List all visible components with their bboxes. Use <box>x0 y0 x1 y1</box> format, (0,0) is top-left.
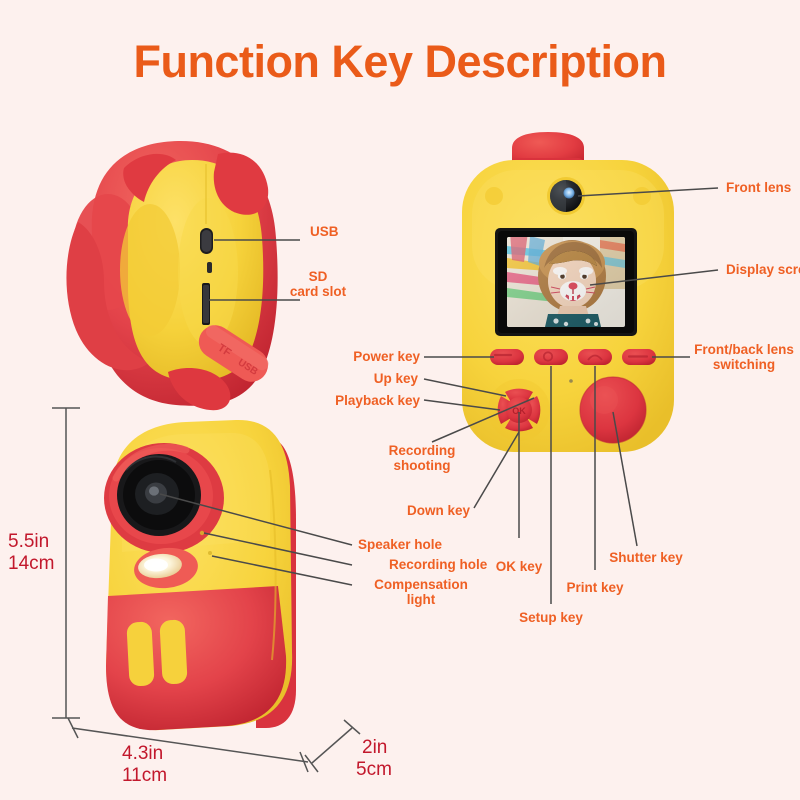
callout-speaker-hole: Speaker hole <box>358 538 442 553</box>
callout-display-screen: Display screen <box>726 263 800 278</box>
callout-power-key: Power key <box>260 350 420 365</box>
callout-ok-key: OK key <box>483 560 555 575</box>
callout-playback-key: Playback key <box>260 394 420 409</box>
callout-recording-shooting: Recording shooting <box>368 444 476 473</box>
callout-front-back-lens-switching: Front/back lens switching <box>688 343 800 372</box>
width-dimension-inches: 4.3in <box>122 743 163 765</box>
infographic-canvas: Function Key Description <box>0 0 800 800</box>
height-dimension-inches: 5.5in <box>8 531 49 553</box>
callout-down-key: Down key <box>354 504 470 519</box>
print-key-button <box>578 349 612 365</box>
angled-view-graphic <box>104 420 296 730</box>
callout-setup-key: Setup key <box>515 611 587 626</box>
front-view-graphic: OK <box>462 132 674 452</box>
callout-usb: USB <box>310 225 339 240</box>
depth-dimension-cm: 5cm <box>356 759 392 781</box>
callout-compensation-light: Compensation light <box>360 578 482 607</box>
callout-print-key: Print key <box>559 581 631 596</box>
display-screen-photo <box>507 232 625 327</box>
callout-up-key: Up key <box>260 372 418 387</box>
setup-key-button <box>534 349 568 365</box>
callout-recording-hole: Recording hole <box>389 558 487 573</box>
paper-slot-left <box>126 621 154 686</box>
paper-slot-right <box>159 619 187 684</box>
width-dimension-cm: 11cm <box>122 765 167 787</box>
depth-dimension-line <box>312 728 352 763</box>
callout-sd-card-slot: SD card slot <box>258 270 378 299</box>
side-view-graphic: TF USB <box>66 141 277 410</box>
width-dimension-line <box>72 728 308 762</box>
callout-shutter-key: Shutter key <box>604 551 688 566</box>
callout-front-lens: Front lens <box>726 181 791 196</box>
height-dimension-cm: 14cm <box>8 553 54 575</box>
depth-dimension-inches: 2in <box>362 737 387 759</box>
power-key-button <box>490 349 524 365</box>
